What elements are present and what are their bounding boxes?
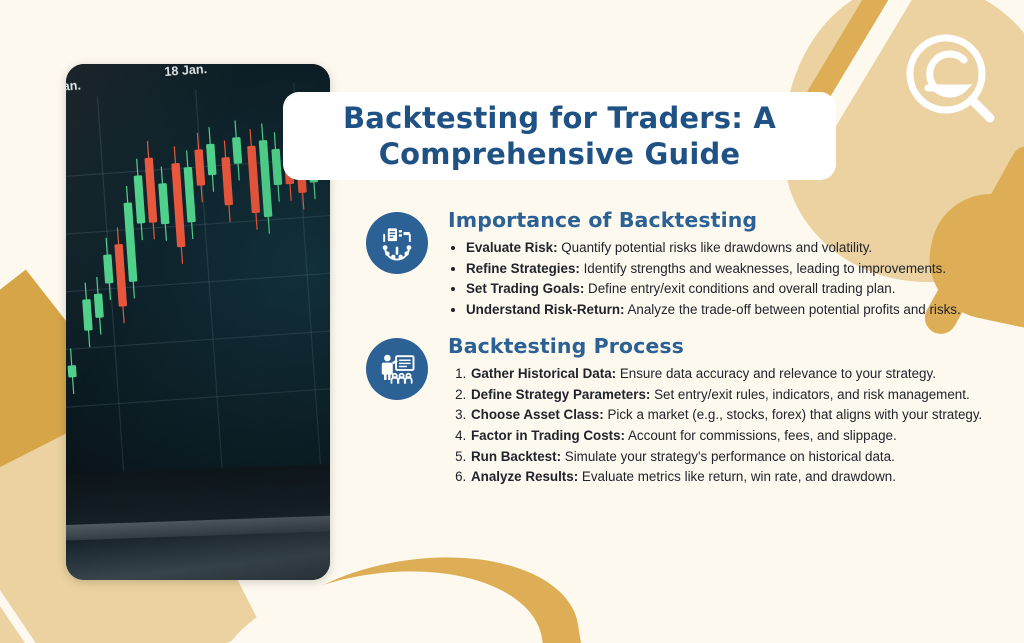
candle — [144, 158, 157, 223]
candle — [221, 157, 233, 205]
list-item: Run Backtest: Simulate your strategy's p… — [470, 447, 986, 467]
magnifying-glass-s-logo — [898, 28, 1002, 132]
candle — [68, 365, 77, 378]
list-item: Understand Risk-Return: Analyze the trad… — [466, 300, 986, 320]
list-item-text: Evaluate metrics like return, win rate, … — [578, 469, 896, 484]
list-item-text: Simulate your strategy's performance on … — [561, 449, 895, 464]
list-item-term: Gather Historical Data: — [471, 366, 616, 381]
candle — [206, 144, 217, 176]
list-item: Refine Strategies: Identify strengths an… — [466, 259, 986, 279]
list-item: Evaluate Risk: Quantify potential risks … — [466, 238, 986, 258]
list-item-term: Run Backtest: — [471, 449, 561, 464]
list-item: Factor in Trading Costs: Account for com… — [470, 426, 986, 446]
list-item-term: Set Trading Goals: — [466, 281, 584, 296]
list-item-text: Quantify potential risks like drawdowns … — [558, 240, 873, 255]
research-gear-icon — [366, 212, 428, 274]
title-card: Backtesting for Traders: A Comprehensive… — [283, 92, 836, 180]
list-item-text: Identify strengths and weaknesses, leadi… — [580, 261, 946, 276]
process-numbered-list: Gather Historical Data: Ensure data accu… — [448, 364, 986, 487]
list-item-term: Factor in Trading Costs: — [471, 428, 625, 443]
candle — [247, 146, 260, 214]
list-item-term: Understand Risk-Return: — [466, 302, 624, 317]
list-item-term: Evaluate Risk: — [466, 240, 558, 255]
list-item-text: Analyze the trade-off between potential … — [624, 302, 960, 317]
list-item: Choose Asset Class: Pick a market (e.g.,… — [470, 405, 986, 425]
candle — [259, 140, 273, 217]
list-item-text: Pick a market (e.g., stocks, forex) that… — [604, 407, 983, 422]
presenter-audience-icon — [366, 338, 428, 400]
page-title: Backtesting for Traders: A Comprehensive… — [343, 100, 776, 173]
candle — [94, 293, 104, 318]
section-importance-of-backtesting: Importance of Backtesting Evaluate Risk:… — [366, 208, 986, 320]
list-item-text: Set entry/exit rules, indicators, and ri… — [650, 387, 969, 402]
list-item-text: Account for commissions, fees, and slipp… — [625, 428, 897, 443]
laptop-hinge — [66, 511, 330, 541]
laptop-body: ☀ F3 — [66, 460, 330, 580]
cream-stripe-bottom-left-2 — [0, 465, 73, 643]
date-label: 1 Feb. — [271, 64, 308, 65]
section-backtesting-process: Backtesting Process Gather Historical Da… — [366, 334, 986, 487]
page-title-line-2: Comprehensive Guide — [379, 137, 741, 171]
candle — [124, 202, 138, 282]
list-item-text: Define entry/exit conditions and overall… — [584, 281, 895, 296]
cream-stripe-bottom-left-1 — [0, 450, 51, 643]
candle — [114, 244, 127, 307]
list-item: Gather Historical Data: Ensure data accu… — [470, 364, 986, 384]
date-label: 4 Jan. — [66, 78, 81, 95]
section-title: Backtesting Process — [448, 334, 986, 358]
section-body: Backtesting Process Gather Historical Da… — [366, 334, 986, 487]
candle — [103, 254, 113, 283]
candle — [134, 175, 146, 223]
candle — [158, 183, 169, 224]
candle — [184, 167, 196, 223]
candle — [194, 149, 205, 185]
candle — [232, 137, 242, 164]
section-body: Importance of Backtesting Evaluate Risk:… — [366, 208, 986, 320]
candle — [82, 299, 93, 331]
list-item-term: Analyze Results: — [471, 469, 578, 484]
content-area: Importance of Backtesting Evaluate Risk:… — [366, 208, 986, 501]
candle — [271, 149, 282, 185]
list-item-text: Ensure data accuracy and relevance to yo… — [616, 366, 936, 381]
importance-bullet-list: Evaluate Risk: Quantify potential risks … — [448, 238, 986, 320]
page-title-line-1: Backtesting for Traders: A — [343, 101, 776, 135]
list-item-term: Refine Strategies: — [466, 261, 580, 276]
section-title: Importance of Backtesting — [448, 208, 986, 232]
list-item: Set Trading Goals: Define entry/exit con… — [466, 279, 986, 299]
date-label: 18 Jan. — [164, 64, 208, 80]
list-item: Analyze Results: Evaluate metrics like r… — [470, 467, 986, 487]
list-item-term: Define Strategy Parameters: — [471, 387, 650, 402]
list-item: Define Strategy Parameters: Set entry/ex… — [470, 385, 986, 405]
list-item-term: Choose Asset Class: — [471, 407, 604, 422]
